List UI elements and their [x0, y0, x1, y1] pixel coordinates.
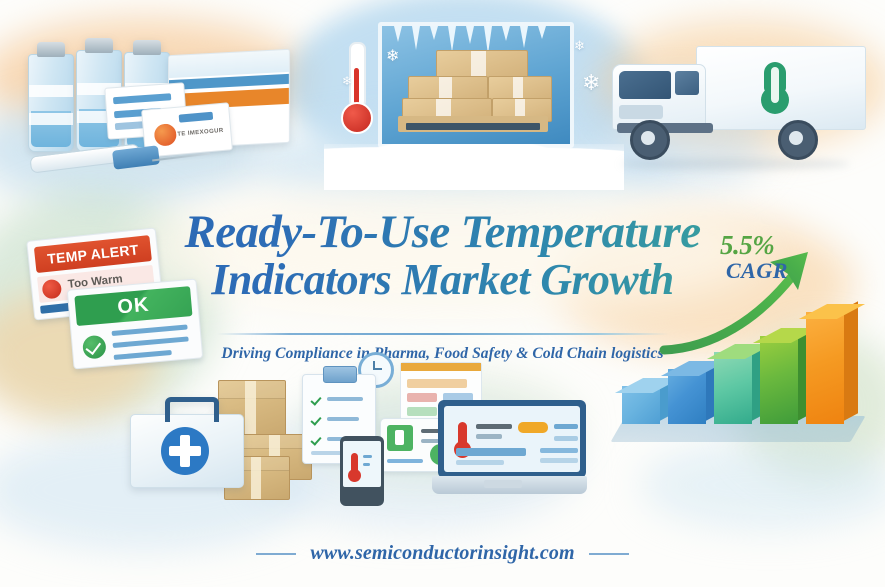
chart-bar	[714, 352, 752, 424]
smartphone-device	[340, 436, 384, 506]
snowflake-icon: ❄	[386, 46, 399, 66]
first-aid-kit-icon	[130, 414, 244, 488]
cagr-value: 5.5%	[720, 230, 774, 261]
wooden-pallet	[398, 116, 548, 132]
refrigerated-truck-illustration	[600, 28, 868, 180]
indicator-square-icon	[387, 425, 413, 451]
infographic-canvas: VACCINE TE IMEXOGUR	[0, 0, 885, 587]
chart-bar	[668, 369, 706, 424]
title-divider	[217, 333, 669, 335]
truck-cab	[612, 64, 706, 130]
medical-supplies-illustration	[128, 372, 318, 504]
checkmark-icon	[311, 415, 320, 424]
checkmark-icon	[311, 435, 320, 444]
temperature-indicator-cards: TEMP ALERT Too Warm OK	[22, 228, 202, 378]
chart-bar	[622, 386, 660, 424]
syringe-plunger	[112, 145, 160, 169]
temp-ok-header: OK	[74, 286, 192, 326]
monitoring-devices-illustration	[292, 352, 592, 524]
truck-wheel	[630, 120, 670, 160]
truck-wheel	[778, 120, 818, 160]
temperature-indicator-dot	[151, 121, 179, 149]
footer: www.semiconductorinsight.com	[0, 542, 885, 566]
checkmark-icon	[311, 395, 320, 404]
temp-ok-card: OK	[67, 278, 203, 369]
chart-bar	[806, 312, 844, 424]
truck-shadow	[620, 158, 850, 170]
indicator-label-text: TE IMEXOGUR	[177, 128, 224, 138]
thermometer-icon	[458, 422, 467, 448]
vaccine-illustration: VACCINE TE IMEXOGUR	[18, 22, 318, 182]
green-check-icon	[82, 335, 107, 360]
vaccine-vial-icon	[28, 54, 74, 152]
footer-dash-right	[589, 553, 629, 555]
cold-storage-illustration: ❄ ❄ ❄ ❄	[330, 14, 615, 186]
laptop-dashboard	[432, 400, 587, 500]
truck-thermometer-icon	[760, 62, 792, 110]
growth-bar-chart: 5.5% CAGR	[608, 228, 876, 460]
cagr-label: CAGR	[726, 258, 788, 284]
snowflake-icon: ❄	[582, 70, 600, 96]
medical-cross-icon	[161, 427, 209, 475]
chart-bar	[760, 336, 798, 424]
thermometer-icon	[351, 453, 358, 475]
snowflake-icon: ❄	[574, 38, 585, 54]
snowflake-icon: ❄	[342, 74, 352, 88]
footer-dash-left	[256, 553, 296, 555]
website-url[interactable]: www.semiconductorinsight.com	[310, 542, 574, 565]
cardboard-box	[436, 50, 528, 78]
